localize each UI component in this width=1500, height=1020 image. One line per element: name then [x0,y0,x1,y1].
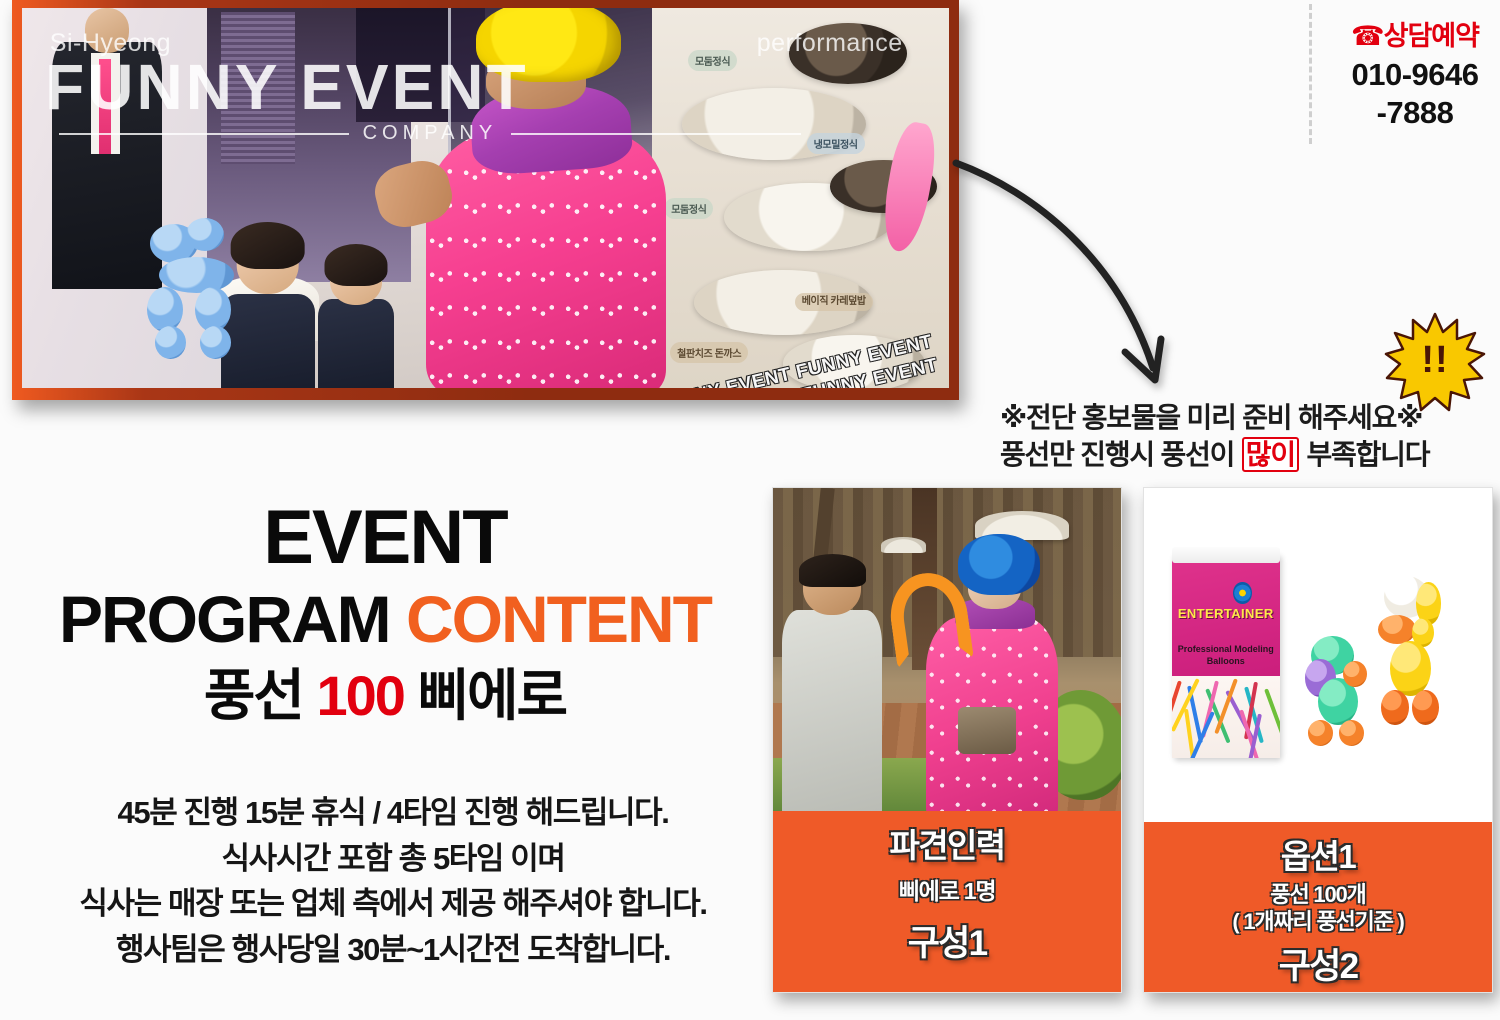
card-staffing-photo [773,488,1121,813]
headline-content-word: CONTENT [406,582,711,656]
card-option-title: 옵션1 [1144,830,1492,878]
watermark-company-row: COMPANY [59,122,801,145]
notice-line-2-prefix: 풍선만 진행시 풍선이 [1000,439,1241,470]
clown-blue-wig [958,534,1040,595]
menu-food-label: 모둠정식 [664,198,713,219]
card-option: ENTERTAINER Professional Modeling Balloo… [1143,487,1493,993]
dashed-divider [1309,4,1312,144]
menu-food-label: 철판치즈 돈까스 [670,342,748,363]
card-option-sub-line-2: ( 1개짜리 풍선기준 ) [1232,909,1403,934]
description-line-3: 식사는 매장 또는 업체 측에서 제공 해주셔야 합니다. [0,881,786,927]
card-option-sub-line-1: 풍선 100개 [1270,882,1365,907]
headline-event: EVENT [0,500,770,576]
headline-block: EVENT PROGRAM CONTENT 풍선 100 삐에로 [0,500,770,724]
headline-subtitle: 풍선 100 삐에로 [0,668,770,724]
card-staffing-title: 파견인력 [773,819,1121,867]
clown-waist-bag [958,707,1016,755]
poster-root: 모둠정식 냉모밀정식 모둠정식 베이직 카레덮밥 철판치즈 돈까스 [0,0,1500,1020]
man-with-child [780,560,884,814]
consultation-title: ☎상담예약 [1330,14,1500,53]
notice-line-2-suffix: 부족합니다 [1300,439,1429,470]
watermark-rule-left [59,133,348,135]
hero-photo: 모둠정식 냉모밀정식 모둠정식 베이직 카레덮밥 철판치즈 돈까스 [22,8,949,388]
notice-line-2: 풍선만 진행시 풍선이 많이 부족합니다 [1000,437,1495,474]
bag-white-header [1172,547,1280,563]
product-sub-label: Professional Modeling Balloons [1172,643,1280,667]
patio-umbrella-small [881,537,926,553]
product-brand-label: ENTERTAINER [1172,606,1280,621]
watermark-company-label: COMPANY [363,122,498,145]
notice-block: ※전단 홍보물을 미리 준비 해주세요※ 풍선만 진행시 풍선이 많이 부족합니… [1000,400,1495,474]
card-option-photo: ENTERTAINER Professional Modeling Balloo… [1144,488,1492,813]
watermark-rule-right [511,133,800,135]
phone-number-line-2[interactable]: -7888 [1330,95,1500,131]
description-line-1: 45분 진행 15분 휴식 / 4타임 진행 해드립니다. [0,790,786,836]
headline-sub-prefix: 풍선 [204,664,317,727]
card-staffing-foot: 구성1 [773,915,1121,966]
description-line-4: 행사팀은 행사당일 30분~1시간전 도착합니다. [0,927,786,973]
card-option-foot: 구성2 [1144,938,1492,989]
child-background [309,228,402,388]
card-option-sub: 풍선 100개 ( 1개짜리 풍선기준 ) [1144,882,1492,936]
clown-with-blue-wig [926,534,1058,814]
flower-logo-icon [1233,582,1251,605]
exclamation-burst: !! [1383,312,1487,412]
loose-balloons-in-bag [1172,676,1280,758]
man-tshirt [782,610,882,813]
headline-program-word: PROGRAM [59,582,406,656]
curved-arrow-icon [940,140,1190,400]
card-option-caption: 옵션1 풍선 100개 ( 1개짜리 풍선기준 ) 구성2 [1144,822,1492,992]
child-hair [324,244,387,285]
blue-balloon-dog [143,215,263,365]
headline-program-content: PROGRAM CONTENT [0,586,770,652]
hero-photo-frame: 모둠정식 냉모밀정식 모둠정식 베이직 카레덮밥 철판치즈 돈까스 [12,0,959,400]
notice-highlight: 많이 [1242,437,1299,472]
description-line-2: 식사시간 포함 총 5타임 이며 [0,836,786,882]
card-staffing-sub: 삐에로 1명 [773,877,1121,905]
menu-food-label: 베이직 카레덮밥 [795,293,873,311]
balloon-product-bag: ENTERTAINER Professional Modeling Balloo… [1172,553,1280,758]
burst-exclamation-text: !! [1383,312,1487,412]
headline-sub-suffix: 삐에로 [404,664,566,727]
child-uniform [318,299,394,388]
watermark-funny-event: FUNNY EVENT [45,50,528,124]
consultation-block: ☎상담예약 010-9646 -7888 [1330,14,1500,131]
balloon-duck-figure [1374,576,1447,739]
headline-sub-number: 100 [317,664,404,727]
card-staffing: 파견인력 삐에로 1명 구성1 [772,487,1122,993]
phone-number-line-1[interactable]: 010-9646 [1330,57,1500,93]
outdoor-scene [773,488,1121,813]
man-hair [799,554,866,587]
card-staffing-caption: 파견인력 삐에로 1명 구성1 [773,811,1121,992]
menu-food-label: 냉모밀정식 [807,133,865,154]
notice-line-1: ※전단 홍보물을 미리 준비 해주세요※ [1000,400,1495,437]
balloon-bird-figure [1304,631,1374,748]
description-block: 45분 진행 15분 휴식 / 4타임 진행 해드립니다. 식사시간 포함 총 … [0,790,786,972]
watermark-brand-right: performance [757,29,903,58]
product-scene: ENTERTAINER Professional Modeling Balloo… [1144,488,1492,813]
